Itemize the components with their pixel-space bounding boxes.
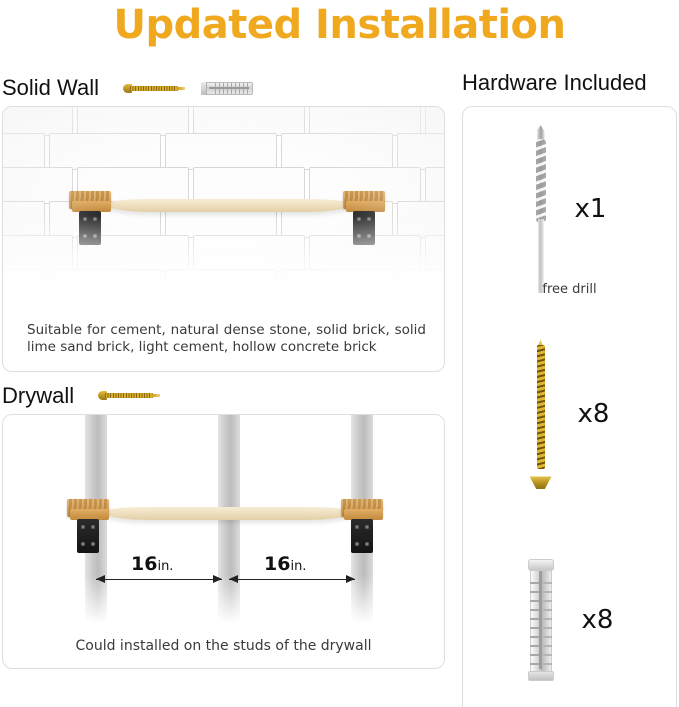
solid-wall-header-icons (123, 82, 253, 95)
dimension-label-left: 16in. (131, 553, 173, 575)
left-column: Solid Wall (2, 70, 445, 669)
wall-anchor-icon (201, 82, 253, 95)
solid-wall-header: Solid Wall (2, 70, 445, 106)
solid-wall-title: Solid Wall (2, 75, 99, 101)
drywall-title: Drywall (2, 383, 74, 409)
dimension-line-right (229, 579, 355, 580)
solid-wall-panel: Suitable for cement, natural dense stone… (2, 106, 445, 372)
hardware-panel: x1 free drill x8 x8 (462, 106, 677, 707)
wood-shelf (106, 199, 351, 212)
dimension-value: 16 (131, 553, 157, 575)
hardware-count: x1 (575, 194, 607, 224)
drywall-header: Drywall (2, 378, 445, 414)
wood-shelf (103, 507, 353, 520)
dimension-label-right: 16in. (264, 553, 306, 575)
screw-icon (530, 339, 552, 489)
dimension-unit: in. (157, 559, 173, 574)
dimension-line-left (96, 579, 222, 580)
shelf-bracket-left (69, 191, 111, 247)
shelf-bracket-right (343, 191, 385, 247)
wall-anchor-icon (526, 559, 556, 681)
drywall-caption: Could installed on the studs of the dryw… (3, 630, 444, 668)
hardware-item-drill: x1 free drill (463, 107, 676, 311)
hardware-count: x8 (582, 605, 614, 635)
infographic-page: Updated Installation Solid Wall (0, 0, 679, 707)
screw-icon (98, 391, 160, 400)
dimension-value: 16 (264, 553, 290, 575)
solid-wall-description: Suitable for cement, natural dense stone… (3, 312, 444, 371)
hardware-item-anchor: x8 (463, 518, 676, 707)
wall-stud (218, 415, 240, 630)
drywall-illustration: 16in. 16in. (3, 415, 444, 630)
shelf-bracket-left (67, 499, 109, 555)
page-title: Updated Installation (0, 2, 679, 48)
drywall-panel: 16in. 16in. Could installed on the studs… (2, 414, 445, 669)
dimension-unit: in. (290, 559, 306, 574)
brick-wall-illustration (3, 107, 444, 312)
shelf-bracket-right (341, 499, 383, 555)
hardware-count: x8 (578, 399, 610, 429)
right-column: Hardware Included x1 free drill x8 (462, 70, 677, 707)
hardware-included-title: Hardware Included (462, 70, 677, 106)
drill-bit-icon (533, 125, 549, 293)
screw-icon (123, 84, 185, 93)
hardware-caption: free drill (463, 282, 676, 297)
drywall-header-icons (98, 391, 160, 400)
hardware-item-screw: x8 (463, 312, 676, 516)
